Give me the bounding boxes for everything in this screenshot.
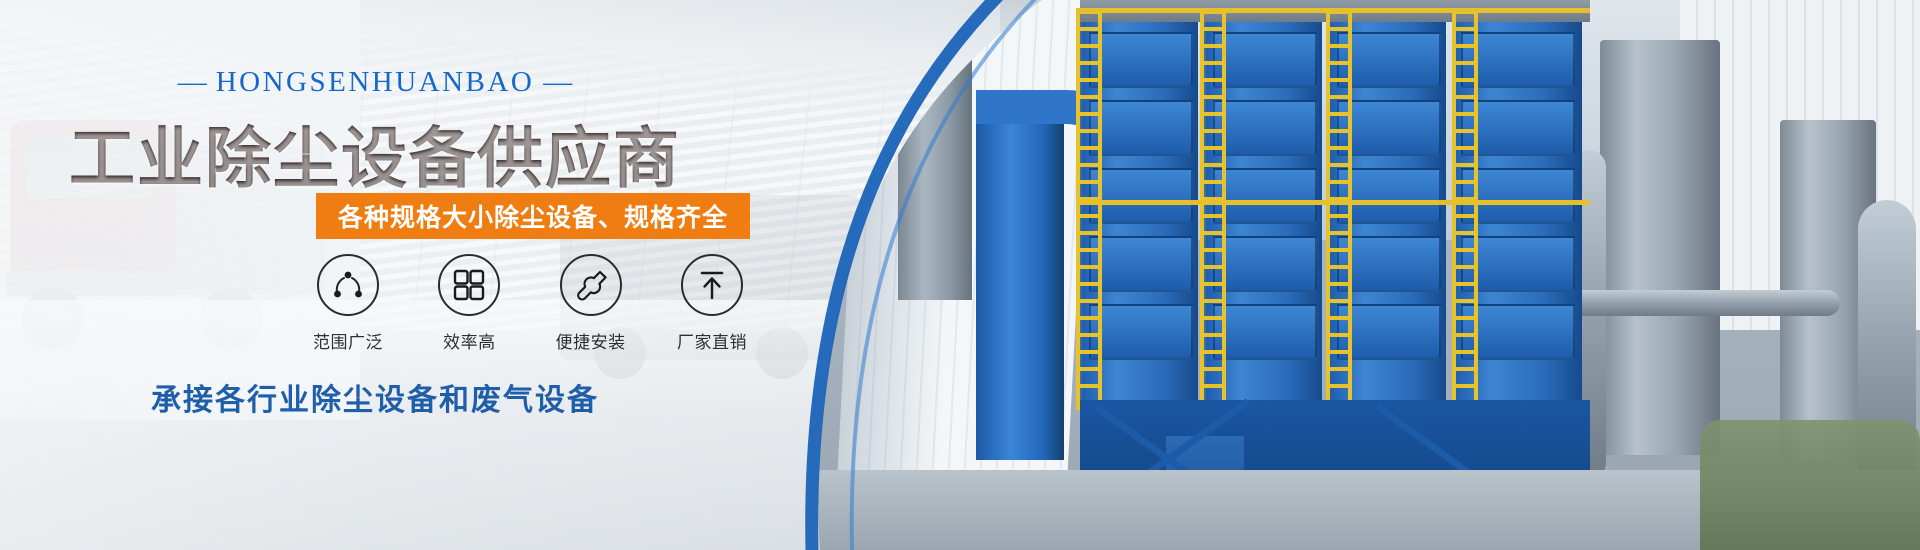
feature-item-scope: 范围广泛: [300, 254, 396, 353]
feature-item-install: 便捷安装: [543, 254, 639, 353]
photo-ladder: [1452, 10, 1478, 410]
network-scope-icon: [317, 254, 379, 316]
feature-label: 便捷安装: [543, 328, 639, 353]
eyebrow-dash-right: —: [534, 66, 581, 98]
ribbon-text: 各种规格大小除尘设备、规格齐全: [338, 198, 728, 234]
feature-label: 范围广泛: [300, 328, 396, 353]
industrial-plant-photo: [780, 0, 1920, 550]
hero-banner: —HONGSENHUANBAO— 工业除尘设备供应商 各种规格大小除尘设备、规格…: [0, 0, 1920, 550]
arrow-up-to-bar-icon: [681, 254, 743, 316]
photo-ladder: [1076, 10, 1102, 410]
wrench-icon: [560, 254, 622, 316]
eyebrow-dash-left: —: [169, 66, 216, 98]
eyebrow-text: HONGSENHUANBAO: [216, 66, 535, 98]
banner-text-block: —HONGSENHUANBAO— 工业除尘设备供应商 各种规格大小除尘设备、规格…: [0, 0, 840, 550]
feature-item-factory-direct: 厂家直销: [664, 254, 760, 353]
photo-ladder: [1200, 10, 1226, 410]
banner-headline: 工业除尘设备供应商: [0, 105, 750, 201]
banner-ribbon: 各种规格大小除尘设备、规格齐全: [316, 193, 750, 239]
feature-list: 范围广泛 效率高: [300, 254, 760, 353]
photo-silo: [1600, 40, 1720, 460]
feature-label: 厂家直销: [664, 328, 760, 353]
feature-label: 效率高: [421, 328, 517, 353]
feature-item-efficiency: 效率高: [421, 254, 517, 353]
photo-handrail: [1076, 8, 1590, 13]
photo-handrail: [1076, 200, 1590, 205]
banner-eyebrow: —HONGSENHUANBAO—: [0, 66, 750, 99]
photo-hedge: [1700, 420, 1920, 550]
photo-ladder: [1326, 10, 1352, 410]
banner-subline: 承接各行业除尘设备和废气设备: [0, 375, 750, 419]
grid-squares-icon: [438, 254, 500, 316]
